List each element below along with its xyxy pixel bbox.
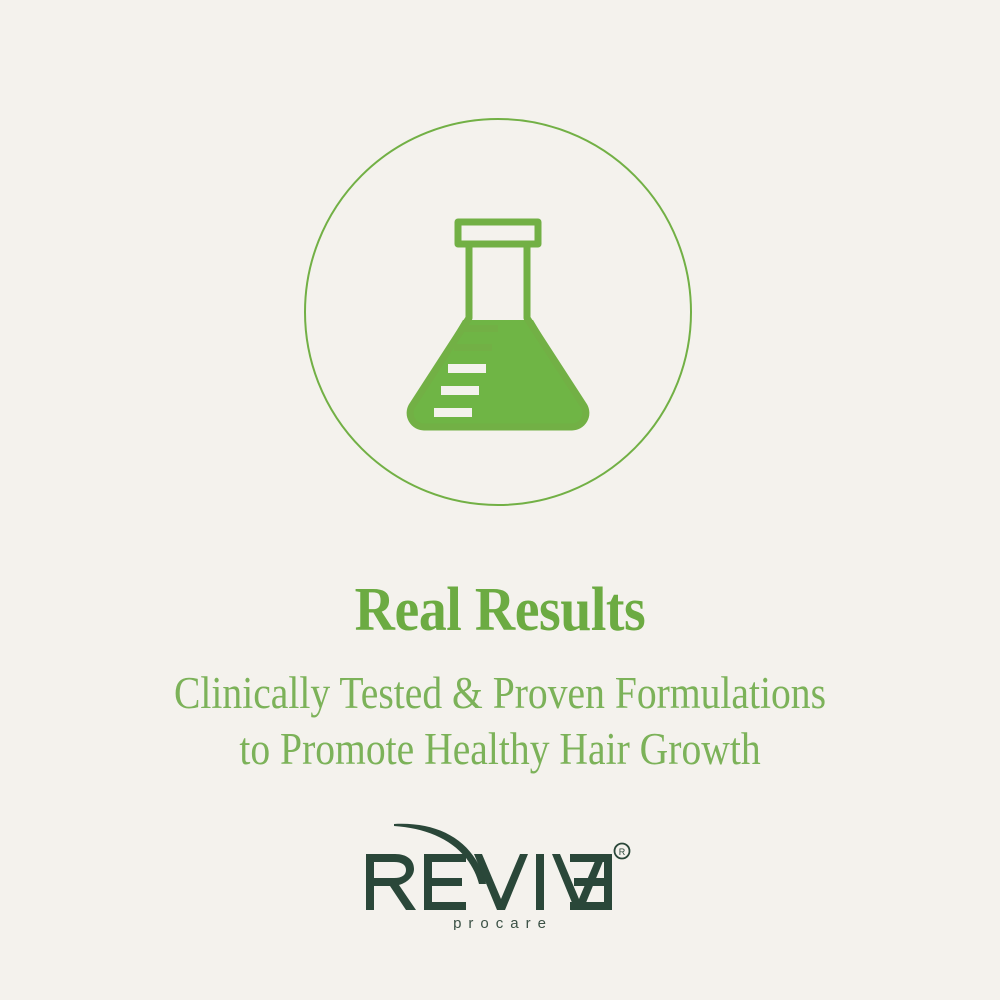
headline-block: Real Results Clinically Tested & Proven … [0, 578, 1000, 778]
brand-logo: R procare [360, 818, 640, 930]
flask-badge [304, 118, 692, 506]
page-subtitle: Clinically Tested & Proven Formulations … [60, 665, 940, 778]
logo-tagline: procare [453, 915, 553, 930]
svg-text:R: R [619, 847, 626, 857]
subtitle-line-1: Clinically Tested & Proven Formulations [60, 665, 940, 721]
promo-canvas: Real Results Clinically Tested & Proven … [0, 0, 1000, 1000]
registered-trademark-icon: R [615, 844, 630, 859]
erlenmeyer-flask-icon [398, 192, 598, 432]
subtitle-line-2: to Promote Healthy Hair Growth [60, 721, 940, 777]
page-title: Real Results [50, 578, 950, 643]
